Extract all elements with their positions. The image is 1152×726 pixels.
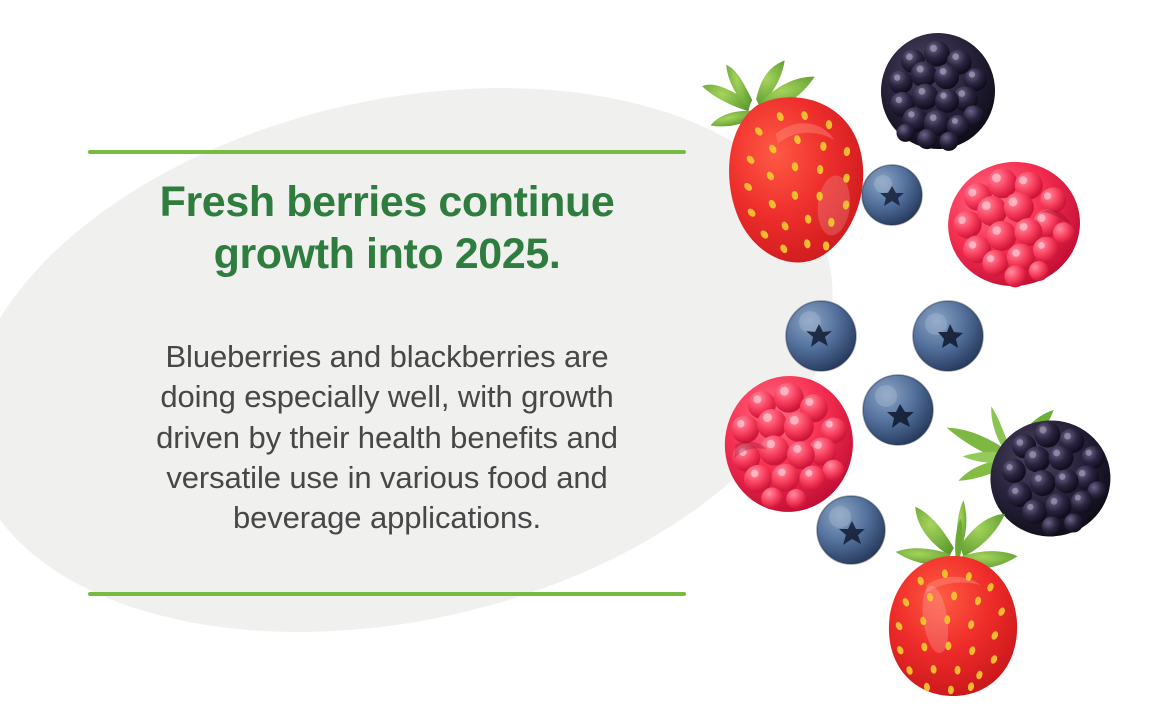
- infographic-canvas: Fresh berries continue growth into 2025.…: [0, 0, 1152, 726]
- text-column: Fresh berries continue growth into 2025.…: [88, 176, 686, 538]
- strawberry-bottom: [865, 497, 1042, 703]
- blueberry-lower: [816, 495, 886, 565]
- raspberry-right: [935, 147, 1092, 300]
- blueberry-upper: [861, 164, 923, 226]
- blueberry-center: [862, 374, 934, 446]
- body-copy: Blueberries and blackberries are doing e…: [88, 337, 686, 538]
- headline: Fresh berries continue growth into 2025.: [88, 176, 686, 281]
- blackberry-top: [870, 22, 1006, 160]
- divider-rule-top: [88, 150, 686, 154]
- blackberry-bottom: [933, 392, 1123, 554]
- blueberry-mid-right: [912, 300, 984, 372]
- divider-rule-bottom: [88, 592, 686, 596]
